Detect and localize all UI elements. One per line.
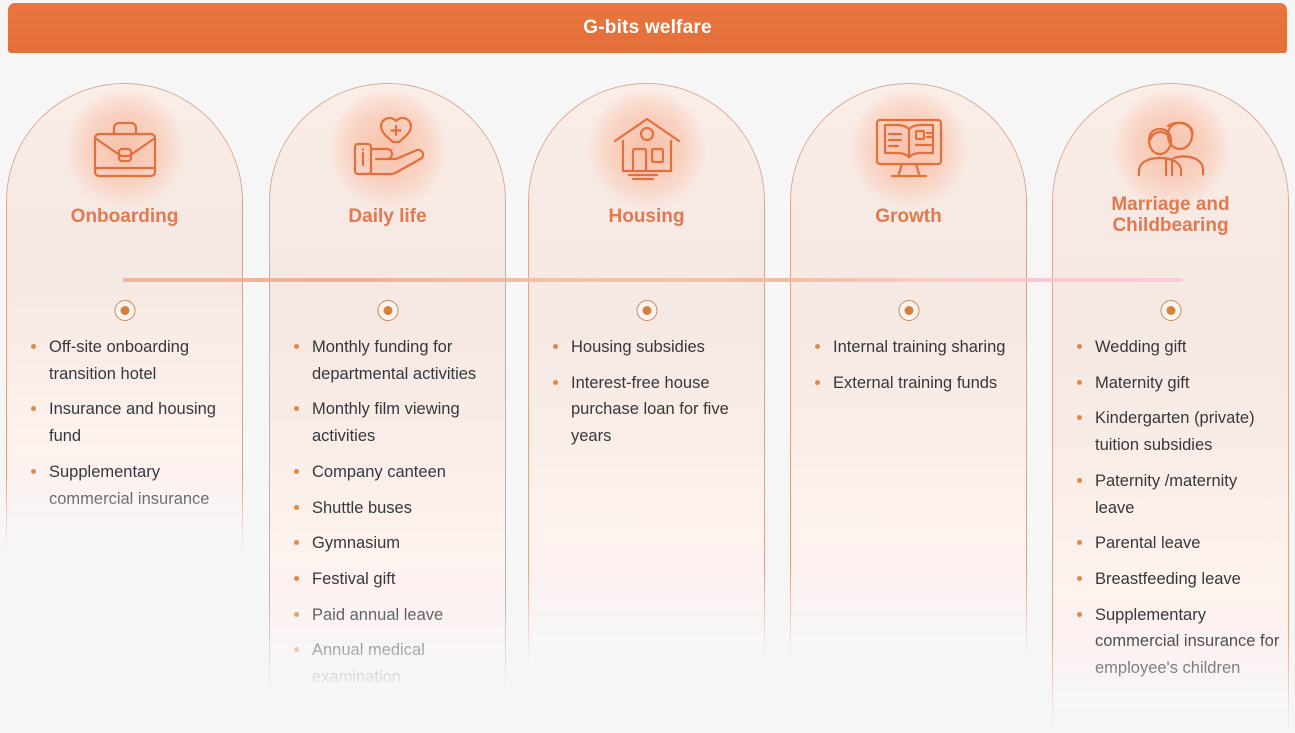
- welfare-board: Onboarding Off-site onboarding transitio…: [0, 53, 1295, 715]
- list-item: Supplementary commercial insurance for e…: [1073, 602, 1280, 682]
- benefit-list: Wedding gift Maternity gift Kindergarten…: [1073, 334, 1280, 691]
- list-item: Breastfeeding leave: [1073, 566, 1280, 593]
- list-item: Annual medical examination: [290, 637, 497, 690]
- list-item: Company canteen: [290, 459, 497, 486]
- list-item: Monthly funding for departmental activit…: [290, 334, 497, 387]
- column-card: Daily life Monthly funding for departmen…: [269, 83, 506, 691]
- list-item: Parental leave: [1073, 530, 1280, 557]
- column-card: Housing Housing subsidies Interest-free …: [528, 83, 765, 663]
- column-title: Onboarding: [7, 206, 242, 227]
- list-item: Supplementary commercial insurance: [27, 459, 234, 512]
- list-item: Monthly film viewing activities: [290, 396, 497, 449]
- list-item: Maternity gift: [1073, 370, 1280, 397]
- benefit-list: Off-site onboarding transition hotel Ins…: [27, 334, 234, 521]
- timeline-node[interactable]: [377, 300, 398, 321]
- header-bar: G-bits welfare: [8, 3, 1287, 53]
- house-icon: [591, 92, 703, 204]
- list-item: Insurance and housing fund: [27, 396, 234, 449]
- list-item: Internal training sharing: [811, 334, 1018, 361]
- list-item: Paid annual leave: [290, 602, 497, 629]
- monitor-book-icon: [853, 92, 965, 204]
- briefcase-icon: [69, 92, 181, 204]
- hand-heart-care-icon: [332, 92, 444, 204]
- list-item: Off-site onboarding transition hotel: [27, 334, 234, 387]
- list-item: Interest-free house purchase loan for fi…: [549, 370, 756, 450]
- list-item: External training funds: [811, 370, 1018, 397]
- list-item: Kindergarten (private) tuition subsidies: [1073, 405, 1280, 458]
- list-item: Gymnasium: [290, 530, 497, 557]
- timeline-connector-line: [123, 278, 1183, 282]
- list-item: Shuttle buses: [290, 495, 497, 522]
- list-item: Paternity /maternity leave: [1073, 468, 1280, 521]
- list-item: Wedding gift: [1073, 334, 1280, 361]
- column-card: Growth Internal training sharing Externa…: [790, 83, 1027, 663]
- list-item: Festival gift: [290, 566, 497, 593]
- benefit-list: Monthly funding for departmental activit…: [290, 334, 497, 700]
- column-title: Growth: [791, 206, 1026, 227]
- list-item: Housing subsidies: [549, 334, 756, 361]
- couple-icon: [1115, 92, 1227, 204]
- timeline-node[interactable]: [898, 300, 919, 321]
- timeline-node[interactable]: [114, 300, 135, 321]
- benefit-list: Housing subsidies Interest-free house pu…: [549, 334, 756, 459]
- column-card: Marriage and Childbearing Wedding gift M…: [1052, 83, 1289, 733]
- column-title: Daily life: [270, 206, 505, 227]
- benefit-list: Internal training sharing External train…: [811, 334, 1018, 405]
- page-title: G-bits welfare: [583, 17, 711, 39]
- column-title: Housing: [529, 206, 764, 227]
- column-title: Marriage and Childbearing: [1053, 194, 1288, 237]
- column-card: Onboarding Off-site onboarding transitio…: [6, 83, 243, 553]
- timeline-node[interactable]: [636, 300, 657, 321]
- timeline-node[interactable]: [1160, 300, 1181, 321]
